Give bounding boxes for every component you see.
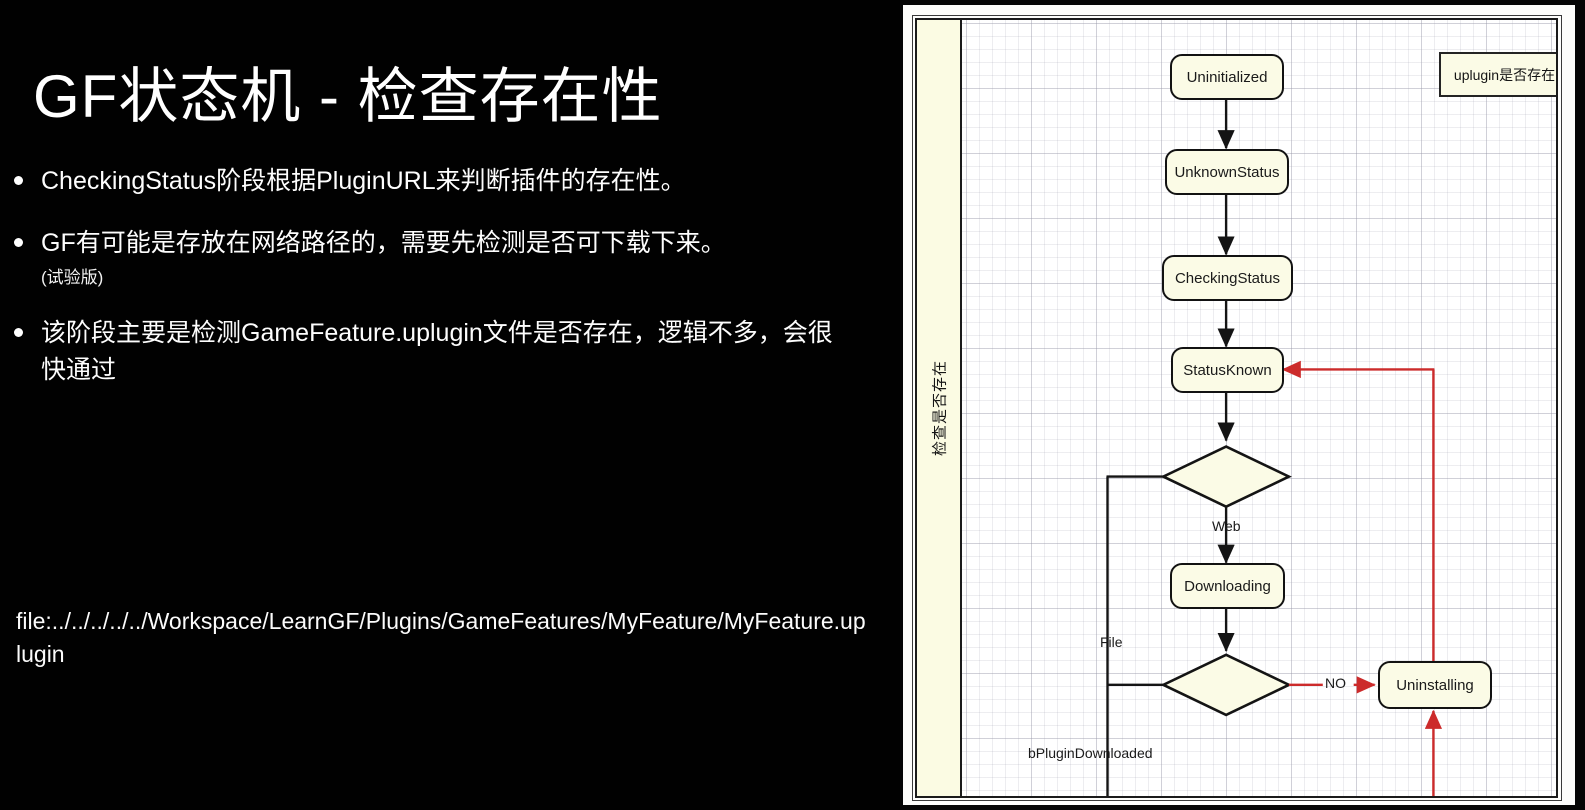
state-node-downloading[interactable]: Downloading [1170, 563, 1285, 609]
swimlane-body: Uninitialized UnknownStatus CheckingStat… [962, 20, 1556, 796]
bullet-text: CheckingStatus阶段根据PluginURL来判断插件的存在性。 [41, 163, 854, 199]
state-node-label: Downloading [1184, 578, 1271, 595]
bullet-subtext: (试验版) [41, 266, 854, 290]
state-node-label: UnknownStatus [1174, 164, 1279, 181]
flowchart-panel: 检查是否存在 [900, 0, 1585, 810]
slide-content-area: GF状态机 - 检查存在性 CheckingStatus阶段根据PluginUR… [0, 0, 900, 810]
note-annotation: uplugin是否存在 [1439, 52, 1558, 97]
state-node-unknownstatus[interactable]: UnknownStatus [1165, 149, 1289, 195]
swimlane-title: 检查是否存在 [928, 360, 949, 456]
state-node-label: StatusKnown [1183, 362, 1271, 379]
edge-label-no: NO [1325, 675, 1346, 691]
list-item: GF有可能是存放在网络路径的，需要先检测是否可下载下来。 (试验版) [14, 225, 854, 289]
note-label: uplugin是否存在 [1439, 52, 1558, 97]
state-node-uninitialized[interactable]: Uninitialized [1170, 54, 1284, 100]
swimlane-container: 检查是否存在 [915, 18, 1558, 798]
state-node-uninstalling[interactable]: Uninstalling [1378, 661, 1492, 709]
swimlane-header: 检查是否存在 [917, 20, 962, 796]
edge-label-bplugindownloaded: bPluginDownloaded [1028, 745, 1153, 761]
bullet-text: 该阶段主要是检测GameFeature.uplugin文件是否存在，逻辑不多，会… [41, 315, 854, 388]
bullet-list: CheckingStatus阶段根据PluginURL来判断插件的存在性。 GF… [14, 163, 854, 414]
state-node-label: Uninitialized [1187, 69, 1268, 86]
list-item: 该阶段主要是检测GameFeature.uplugin文件是否存在，逻辑不多，会… [14, 315, 854, 388]
diagram-canvas: 检查是否存在 [903, 5, 1575, 805]
edge-label-web: Web [1212, 518, 1241, 534]
bullet-dot-icon [14, 238, 23, 247]
file-path-text: file:../../../../../Workspace/LearnGF/Pl… [16, 605, 866, 672]
list-item: CheckingStatus阶段根据PluginURL来判断插件的存在性。 [14, 163, 854, 199]
state-node-statusknown[interactable]: StatusKnown [1171, 347, 1284, 393]
state-node-checkingstatus[interactable]: CheckingStatus [1162, 255, 1293, 301]
state-node-label: CheckingStatus [1175, 270, 1280, 287]
bullet-text: GF有可能是存放在网络路径的，需要先检测是否可下载下来。 [41, 225, 854, 261]
state-node-label: Uninstalling [1396, 677, 1474, 694]
edge-label-file: File [1100, 634, 1123, 650]
bullet-dot-icon [14, 328, 23, 337]
bullet-dot-icon [14, 176, 23, 185]
page-title: GF状态机 - 检查存在性 [33, 48, 663, 135]
